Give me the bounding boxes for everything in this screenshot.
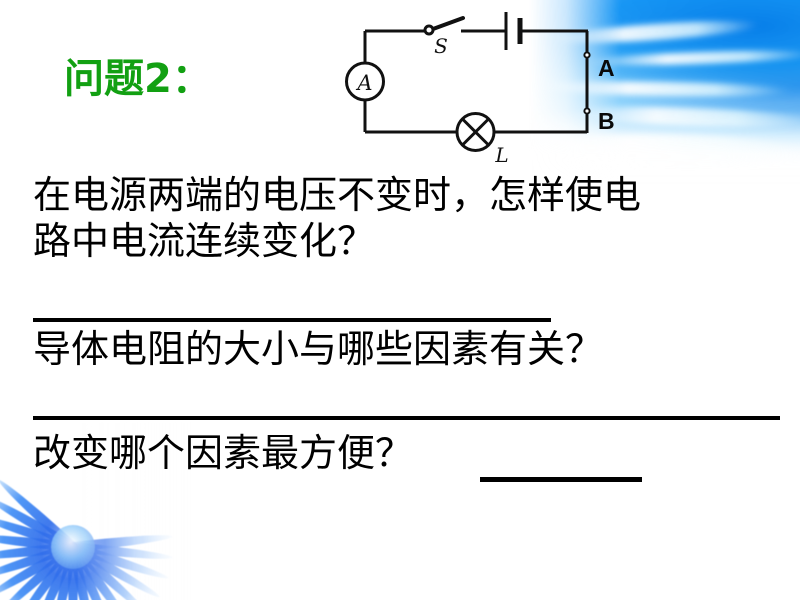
svg-text:S: S [434,34,448,58]
svg-text:L: L [494,143,508,167]
slide-canvas: 问题2： A S [0,0,800,600]
answer-blank-underline [480,477,642,482]
question-line-4: 改变哪个因素最方便？ [33,434,413,474]
terminal-label-b: B [598,108,615,135]
question-line-3: 导体电阻的大小与哪些因素有关？ [33,330,603,370]
terminal-label-a: A [598,55,615,82]
circuit-diagram: A S L [330,0,630,170]
answer-rule-2 [33,416,780,420]
flower-center [51,525,95,569]
question-line-2: 路中电流连续变化？ [33,222,375,262]
svg-text:A: A [355,71,372,95]
answer-rule-1 [33,318,551,322]
page-title: 问题2： [64,46,212,104]
question-line-1: 在电源两端的电压不变时，怎样使电 [33,176,641,216]
